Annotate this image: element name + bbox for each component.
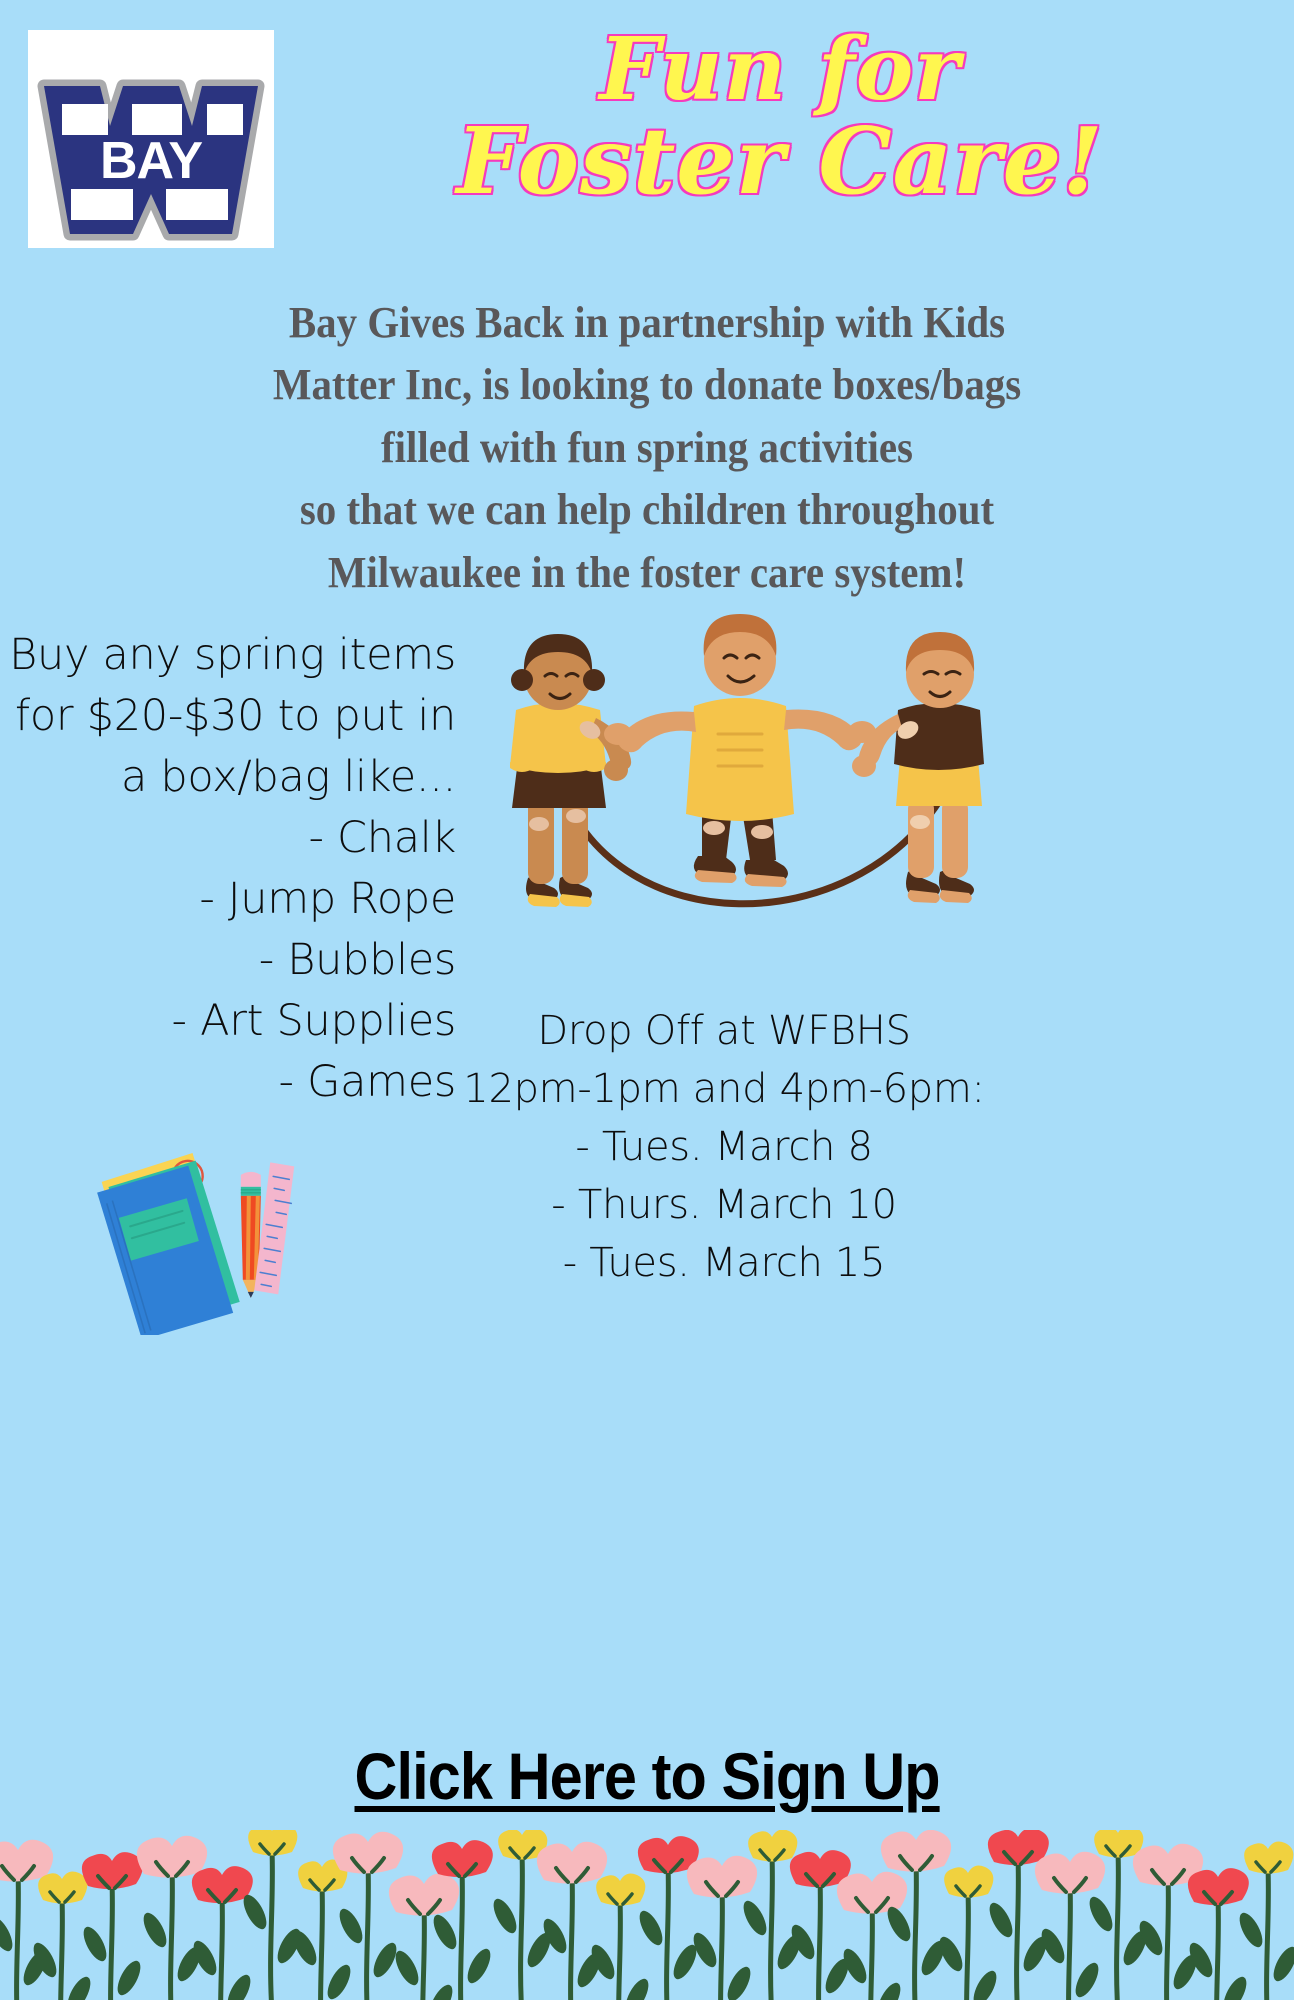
poster-title: Fun for Foster Care! <box>290 28 1270 206</box>
lede-paragraph: Bay Gives Back in partnership with Kids … <box>82 292 1211 604</box>
title-line-2: Foster Care! <box>290 116 1270 206</box>
flower-border-illustration <box>0 1830 1294 2000</box>
bay-w-logo-icon: BAY <box>28 30 274 248</box>
lede-line: so that we can help children throughout <box>82 479 1211 541</box>
bay-logo-card: BAY <box>28 30 274 248</box>
list-item: - Chalk <box>0 808 470 869</box>
cta-container: Click Here to Sign Up <box>0 1738 1294 1814</box>
lede-line: filled with fun spring activities <box>82 417 1211 479</box>
list-item: a box/bag like... <box>0 747 470 808</box>
list-item: - Games <box>0 1052 470 1113</box>
three-kids-jump-rope-icon <box>470 610 1030 950</box>
lede-line: Bay Gives Back in partnership with Kids <box>82 292 1211 354</box>
buy-items-list: Buy any spring items for $20-$30 to put … <box>0 625 470 1113</box>
dropoff-line: - Thurs. March 10 <box>440 1176 1008 1234</box>
school-supplies-illustration <box>88 1135 308 1335</box>
book-pencil-ruler-icon <box>88 1135 308 1335</box>
list-item: for $20-$30 to put in <box>0 686 470 747</box>
list-item: - Art Supplies <box>0 991 470 1052</box>
title-line-1: Fun for <box>290 28 1270 112</box>
list-item: Buy any spring items <box>0 625 470 686</box>
lede-line: Matter Inc, is looking to donate boxes/b… <box>82 354 1211 416</box>
dropoff-line: - Tues. March 8 <box>440 1118 1008 1176</box>
lede-line: Milwaukee in the foster care system! <box>82 542 1211 604</box>
dropoff-line: Drop Off at WFBHS <box>440 1002 1008 1060</box>
dropoff-line: 12pm-1pm and 4pm-6pm: <box>440 1060 1008 1118</box>
kids-jump-rope-illustration <box>470 610 1030 950</box>
dropoff-info: Drop Off at WFBHS 12pm-1pm and 4pm-6pm: … <box>440 1002 1008 1292</box>
spring-flower-border-icon <box>0 1830 1294 2000</box>
dropoff-line: - Tues. March 15 <box>440 1234 1008 1292</box>
sign-up-link[interactable]: Click Here to Sign Up <box>354 1738 939 1814</box>
poster-canvas: BAY Fun for Foster Care! Bay Gives Back … <box>0 0 1294 2000</box>
list-item: - Bubbles <box>0 930 470 991</box>
svg-text:BAY: BAY <box>100 132 202 190</box>
list-item: - Jump Rope <box>0 869 470 930</box>
